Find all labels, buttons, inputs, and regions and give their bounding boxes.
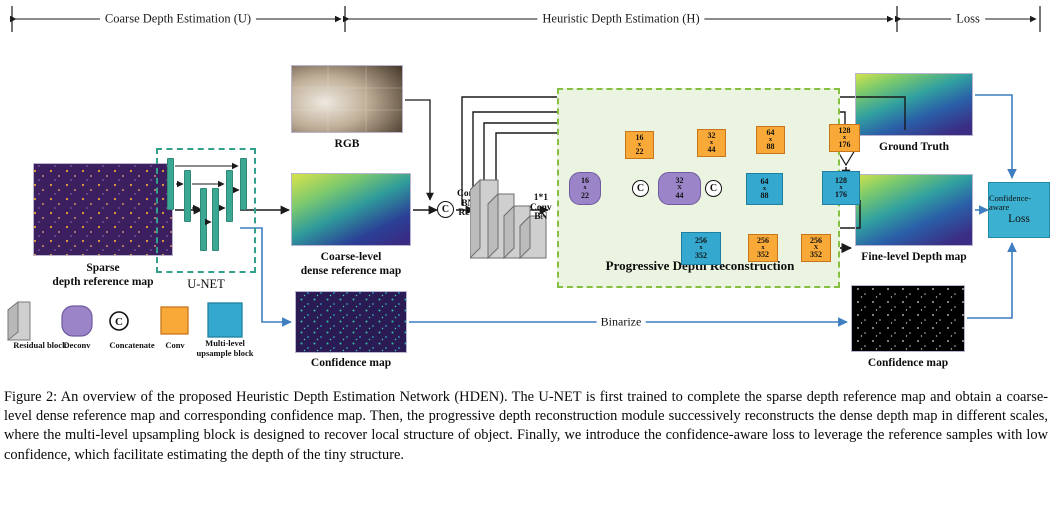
coarse-level-dense-reference-map-label: Coarse-level dense reference map (261, 250, 441, 278)
conv-node-64x88: 64 x 88 (756, 126, 785, 154)
conv-node-256x352-b: 256 X 352 (801, 234, 831, 262)
loss-line-2: Loss (1008, 213, 1030, 226)
legend: C Residual block Deconv Concatenate Conv… (0, 296, 250, 366)
fine-level-depth-map-label: Fine-level Depth map (819, 250, 1009, 264)
conv-node-128x176: 128 x 176 (829, 124, 860, 152)
unet-box (156, 148, 256, 273)
deconv-node-32x44: 32 X 44 (658, 172, 701, 205)
phase-bar: Coarse Depth Estimation (U) Heuristic De… (0, 0, 1052, 38)
sparse-depth-reference-map (33, 163, 173, 256)
ground-truth (855, 73, 973, 136)
legend-label-multi-level-upsample-block: Multi-level upsample block (180, 338, 270, 358)
phase-label-heuristic: Heuristic Depth Estimation (H) (537, 12, 704, 27)
deconv-node-16x22: 16 x 22 (569, 172, 601, 205)
conv-node-32x44: 32 x 44 (697, 129, 726, 157)
conv-node-256x352-a: 256 x 352 (748, 234, 778, 262)
phase-label-coarse: Coarse Depth Estimation (U) (100, 12, 256, 27)
confidence-map-coarse-label: Confidence map (271, 356, 431, 370)
confidence-aware-loss-box: Confidence-aware Loss (988, 182, 1050, 238)
phase-label-loss: Loss (951, 12, 985, 27)
confidence-map-binarized (851, 285, 965, 352)
confidence-map-coarse (295, 291, 407, 353)
rgb-image (291, 65, 403, 133)
multi-level-upsample-node-256x352: 256 x 352 (681, 232, 721, 265)
rgb-image-label: RGB (282, 137, 412, 151)
multi-level-upsample-node-64x88: 64 x 88 (746, 173, 783, 205)
multi-level-upsample-node-128x176: 128 x 176 (822, 171, 860, 205)
coarse-level-dense-reference-map (291, 173, 411, 246)
fine-level-depth-map (855, 174, 973, 246)
figure-caption: Figure 2: An overview of the proposed He… (4, 388, 1048, 465)
concatenate-node-input: C (437, 201, 454, 218)
binarize-label: Binarize (597, 315, 646, 330)
conv-node-16x22: 16 x 22 (625, 131, 654, 159)
concatenate-node-1: C (632, 180, 649, 197)
loss-line-1: Confidence-aware (989, 194, 1049, 214)
conv1x1-bn-label: 1*1 Conv BN (530, 194, 552, 223)
unet-label: U-NET (146, 277, 266, 292)
svg-text:C: C (115, 316, 123, 328)
figure-diagram: Coarse Depth Estimation (U) Heuristic De… (0, 0, 1052, 385)
concatenate-node-2: C (705, 180, 722, 197)
confidence-map-binarized-label: Confidence map (828, 356, 988, 370)
